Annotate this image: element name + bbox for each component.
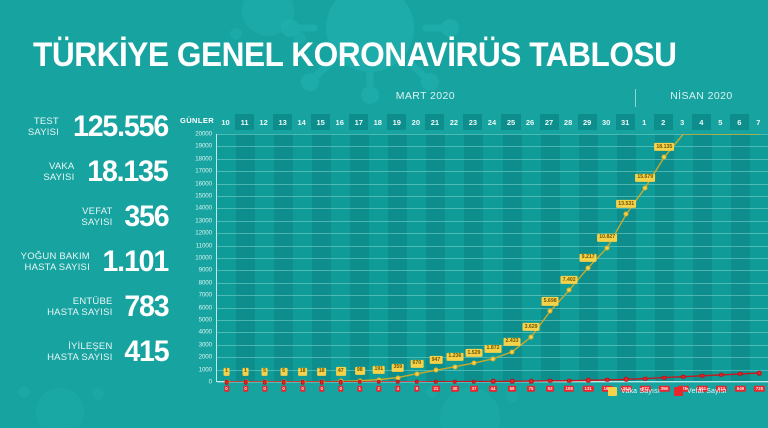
case-value-label: 18 bbox=[298, 368, 308, 376]
day-header-cell: 19 bbox=[387, 114, 406, 130]
y-axis-tick-label: 2000 bbox=[178, 354, 212, 361]
stat-label: YOĞUN BAKIM HASTA SAYISI bbox=[21, 251, 90, 273]
y-axis-tick-label: 1000 bbox=[178, 366, 212, 373]
stat-value: 415 bbox=[124, 337, 168, 367]
death-value-label: 0 bbox=[338, 386, 343, 392]
death-value-label: 0 bbox=[224, 386, 229, 392]
day-header-cell: 30 bbox=[597, 114, 616, 130]
death-data-point bbox=[681, 374, 686, 379]
day-header-row: 1011121314151617181920212223242526272829… bbox=[216, 114, 768, 130]
death-data-point bbox=[624, 377, 629, 382]
day-header-cell: 4 bbox=[692, 114, 711, 130]
y-axis-tick-label: 9000 bbox=[178, 267, 212, 274]
case-data-point bbox=[433, 368, 438, 373]
day-header-cell: 13 bbox=[273, 114, 292, 130]
case-data-point bbox=[548, 309, 553, 314]
death-data-point bbox=[491, 379, 496, 384]
day-header-cell: 10 bbox=[216, 114, 235, 130]
day-header-cell: 7 bbox=[749, 114, 768, 130]
case-value-label: 191 bbox=[372, 366, 385, 374]
case-value-label: 1 bbox=[242, 368, 249, 376]
death-data-point bbox=[548, 379, 553, 384]
death-value-label: 30 bbox=[451, 386, 459, 392]
case-data-point bbox=[624, 212, 629, 217]
death-value-label: 75 bbox=[527, 386, 535, 392]
day-header-cell: 14 bbox=[292, 114, 311, 130]
legend-label: Vefat Sayısı bbox=[687, 388, 727, 395]
y-axis-tick-label: 8000 bbox=[178, 279, 212, 286]
day-header-cell: 22 bbox=[444, 114, 463, 130]
death-data-point bbox=[567, 378, 572, 383]
case-value-label: 947 bbox=[430, 356, 443, 364]
day-header-cell: 25 bbox=[501, 114, 520, 130]
chart-legend: Vaka SayısıVefat Sayısı bbox=[608, 387, 727, 396]
case-data-point bbox=[586, 265, 591, 270]
death-value-label: 59 bbox=[508, 386, 516, 392]
day-header-cell: 17 bbox=[349, 114, 368, 130]
day-header-cell: 11 bbox=[235, 114, 254, 130]
month-label: MART 2020 bbox=[396, 90, 455, 102]
death-data-point bbox=[700, 374, 705, 379]
case-data-point bbox=[471, 361, 476, 366]
case-data-point bbox=[529, 335, 534, 340]
case-value-label: 5 bbox=[261, 368, 268, 376]
death-value-label: 21 bbox=[432, 386, 440, 392]
stat-value: 783 bbox=[124, 292, 168, 322]
case-data-point bbox=[491, 356, 496, 361]
y-axis-tick-label: 18000 bbox=[178, 155, 212, 162]
y-axis-tick-label: 13000 bbox=[178, 217, 212, 224]
death-data-point bbox=[453, 379, 458, 384]
case-value-label: 1.529 bbox=[465, 349, 482, 357]
death-data-point bbox=[224, 380, 229, 385]
y-axis-tick-label: 20000 bbox=[178, 131, 212, 138]
covid-chart: MART 2020NİSAN 2020 GÜNLER 1011121314151… bbox=[178, 88, 768, 428]
case-value-label: 670 bbox=[411, 360, 424, 368]
y-axis-tick-label: 4000 bbox=[178, 329, 212, 336]
case-value-label: 1.872 bbox=[485, 345, 502, 353]
death-data-point bbox=[605, 378, 610, 383]
case-data-point bbox=[662, 155, 667, 160]
death-data-point bbox=[757, 371, 762, 376]
legend-item[interactable]: Vefat Sayısı bbox=[674, 387, 727, 396]
legend-swatch bbox=[674, 387, 683, 396]
case-data-point bbox=[414, 371, 419, 376]
y-axis-tick-label: 5000 bbox=[178, 317, 212, 324]
death-data-point bbox=[338, 380, 343, 385]
stat-label: VEFAT SAYISI bbox=[81, 206, 112, 228]
days-axis-caption: GÜNLER bbox=[180, 116, 216, 125]
death-data-point bbox=[396, 380, 401, 385]
death-data-point bbox=[415, 380, 420, 385]
death-data-point bbox=[738, 372, 743, 377]
stat-row-entube: ENTÜBE HASTA SAYISI 783 bbox=[0, 284, 178, 329]
case-data-point bbox=[605, 245, 610, 250]
legend-item[interactable]: Vaka Sayısı bbox=[608, 387, 660, 396]
y-axis-tick-label: 15000 bbox=[178, 193, 212, 200]
case-value-label: 5.698 bbox=[542, 297, 559, 305]
death-data-point bbox=[662, 375, 667, 380]
death-data-point bbox=[510, 379, 515, 384]
day-header-cell: 20 bbox=[406, 114, 425, 130]
case-value-label: 2.433 bbox=[504, 338, 521, 346]
day-header-cell: 5 bbox=[711, 114, 730, 130]
legend-label: Vaka Sayısı bbox=[621, 388, 660, 395]
day-header-cell: 16 bbox=[330, 114, 349, 130]
death-data-point bbox=[319, 380, 324, 385]
day-header-cell: 26 bbox=[521, 114, 540, 130]
death-value-label: 2 bbox=[376, 386, 381, 392]
death-data-point bbox=[719, 373, 724, 378]
day-header-cell: 6 bbox=[730, 114, 749, 130]
death-value-label: 0 bbox=[243, 386, 248, 392]
death-value-label: 725 bbox=[754, 386, 764, 392]
day-header-cell: 24 bbox=[482, 114, 501, 130]
y-axis-tick-label: 10000 bbox=[178, 255, 212, 262]
death-value-label: 44 bbox=[489, 386, 497, 392]
plot-area: 1155181847981913596709471.2361.5291.8722… bbox=[216, 134, 768, 382]
case-data-point bbox=[510, 349, 515, 354]
death-value-label: 0 bbox=[319, 386, 324, 392]
death-data-point bbox=[262, 380, 267, 385]
y-axis-tick-label: 7000 bbox=[178, 292, 212, 299]
death-value-label: 0 bbox=[281, 386, 286, 392]
stat-label: İYİLEŞEN HASTA SAYISI bbox=[47, 341, 112, 363]
day-header-cell: 15 bbox=[311, 114, 330, 130]
death-data-point bbox=[529, 379, 534, 384]
day-header-cell: 28 bbox=[559, 114, 578, 130]
stat-row-vefat: VEFAT SAYISI 356 bbox=[0, 194, 178, 239]
death-value-label: 0 bbox=[262, 386, 267, 392]
stat-label: TEST SAYISI bbox=[28, 116, 59, 138]
day-header-cell: 1 bbox=[635, 114, 654, 130]
stat-row-iyilesen: İYİLEŞEN HASTA SAYISI 415 bbox=[0, 329, 178, 374]
death-data-point bbox=[358, 380, 363, 385]
death-data-point bbox=[243, 380, 248, 385]
death-value-label: 37 bbox=[470, 386, 478, 392]
y-axis-tick-label: 17000 bbox=[178, 168, 212, 175]
death-value-label: 108 bbox=[564, 386, 574, 392]
page-title: TÜRKİYE GENEL KORONAVİRÜS TABLOSU bbox=[33, 36, 676, 75]
death-value-label: 131 bbox=[583, 386, 593, 392]
case-value-label: 7.402 bbox=[561, 276, 578, 284]
stat-label: ENTÜBE HASTA SAYISI bbox=[47, 296, 112, 318]
case-value-label: 9.217 bbox=[580, 254, 597, 262]
case-value-label: 18 bbox=[317, 368, 327, 376]
stat-value: 1.101 bbox=[102, 247, 168, 277]
day-header-cell: 21 bbox=[425, 114, 444, 130]
y-axis-tick-label: 12000 bbox=[178, 230, 212, 237]
death-data-point bbox=[643, 376, 648, 381]
stat-label: VAKA SAYISI bbox=[43, 161, 74, 183]
case-data-point bbox=[452, 364, 457, 369]
y-axis-tick-label: 14000 bbox=[178, 205, 212, 212]
y-axis-tick-label: 19000 bbox=[178, 143, 212, 150]
day-header-cell: 23 bbox=[463, 114, 482, 130]
y-axis-tick-label: 16000 bbox=[178, 180, 212, 187]
case-value-label: 1 bbox=[223, 368, 230, 376]
stat-value: 125.556 bbox=[73, 112, 168, 142]
y-axis-tick-label: 11000 bbox=[178, 242, 212, 249]
case-value-label: 3.629 bbox=[523, 323, 540, 331]
stat-row-test: TEST SAYISI 125.556 bbox=[0, 104, 178, 149]
day-header-cell: 27 bbox=[540, 114, 559, 130]
case-value-label: 10.827 bbox=[597, 234, 617, 242]
death-data-point bbox=[300, 380, 305, 385]
legend-swatch bbox=[608, 387, 617, 396]
death-value-label: 1 bbox=[357, 386, 362, 392]
death-data-point bbox=[434, 379, 439, 384]
case-data-point bbox=[643, 185, 648, 190]
stat-row-yogun-bakim: YOĞUN BAKIM HASTA SAYISI 1.101 bbox=[0, 239, 178, 284]
death-data-point bbox=[586, 378, 591, 383]
y-axis-tick-label: 6000 bbox=[178, 304, 212, 311]
month-divider bbox=[635, 89, 636, 107]
case-data-point bbox=[567, 288, 572, 293]
day-header-cell: 29 bbox=[578, 114, 597, 130]
death-data-point bbox=[377, 380, 382, 385]
case-value-label: 5 bbox=[280, 368, 287, 376]
month-header-bar: MART 2020NİSAN 2020 bbox=[178, 88, 768, 110]
death-value-label: 92 bbox=[546, 386, 554, 392]
y-axis-tick-label: 0 bbox=[178, 379, 212, 386]
case-value-label: 13.531 bbox=[616, 200, 636, 208]
death-value-label: 649 bbox=[735, 386, 745, 392]
stat-value: 356 bbox=[124, 202, 168, 232]
day-header-cell: 31 bbox=[616, 114, 635, 130]
case-value-label: 18.135 bbox=[654, 143, 674, 151]
death-value-label: 0 bbox=[300, 386, 305, 392]
case-value-label: 98 bbox=[355, 367, 365, 375]
y-axis-tick-label: 3000 bbox=[178, 341, 212, 348]
death-data-point bbox=[472, 379, 477, 384]
stat-row-vaka: VAKA SAYISI 18.135 bbox=[0, 149, 178, 194]
day-header-cell: 2 bbox=[654, 114, 673, 130]
case-value-label: 47 bbox=[336, 367, 346, 375]
death-value-label: 4 bbox=[395, 386, 400, 392]
case-value-label: 1.236 bbox=[446, 353, 463, 361]
case-value-label: 15.679 bbox=[635, 173, 655, 181]
case-value-label: 359 bbox=[391, 363, 404, 371]
day-header-cell: 18 bbox=[368, 114, 387, 130]
death-data-point bbox=[281, 380, 286, 385]
day-header-cell: 3 bbox=[673, 114, 692, 130]
month-label: NİSAN 2020 bbox=[670, 90, 732, 102]
statistics-panel: TEST SAYISI 125.556 VAKA SAYISI 18.135 V… bbox=[0, 104, 178, 374]
day-header-cell: 12 bbox=[254, 114, 273, 130]
death-value-label: 9 bbox=[414, 386, 419, 392]
stat-value: 18.135 bbox=[88, 157, 168, 187]
